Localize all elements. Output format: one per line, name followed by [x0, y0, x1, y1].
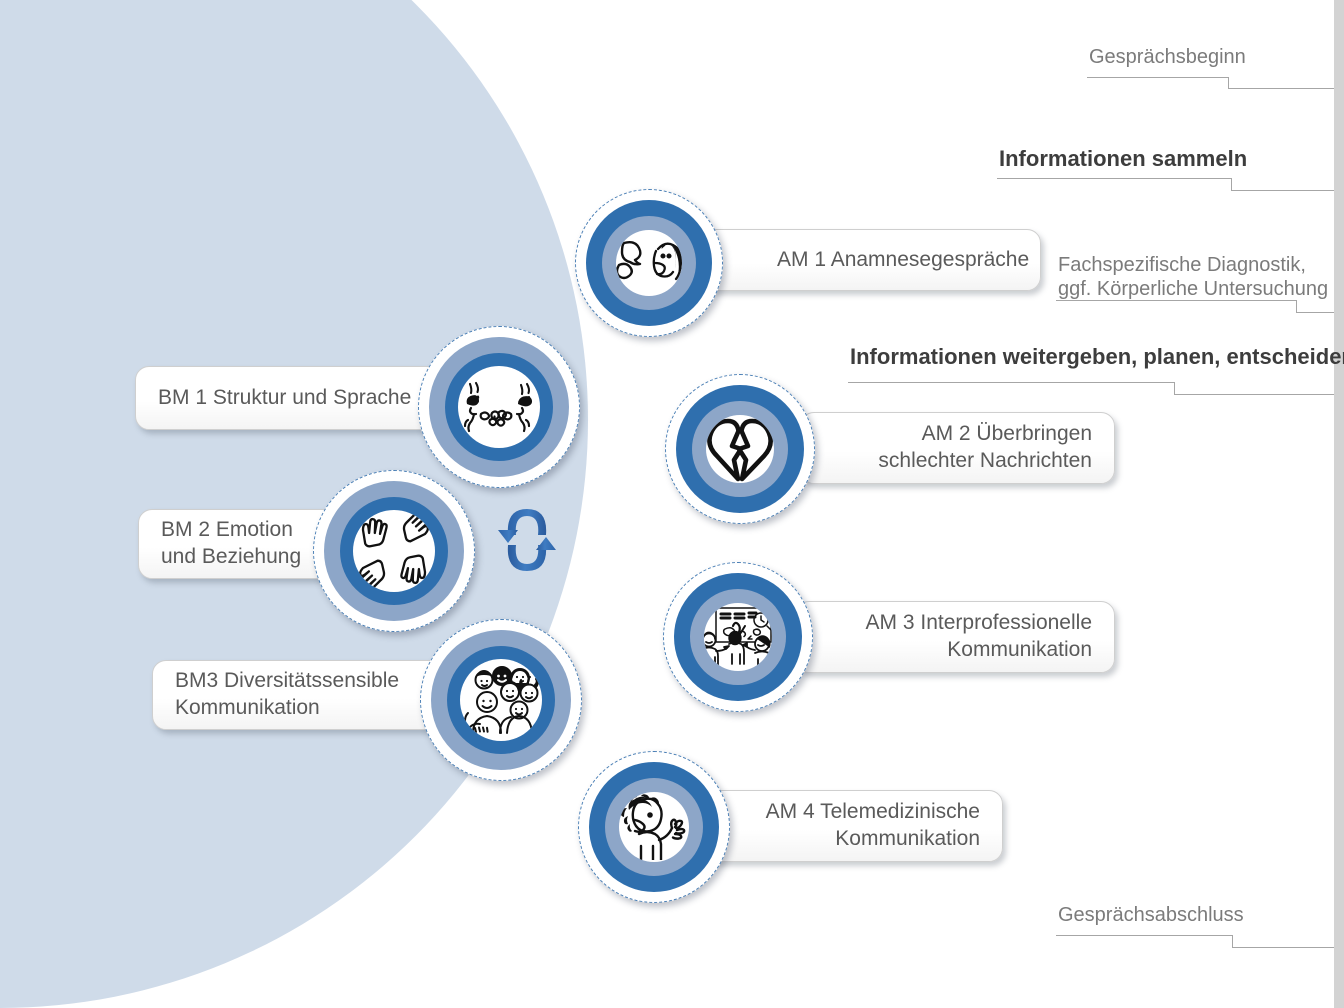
circle-bm3[interactable] — [420, 619, 582, 781]
circle-am4[interactable] — [578, 751, 730, 903]
icon-core — [460, 659, 542, 741]
icon-core — [616, 230, 682, 296]
circle-bm2[interactable] — [313, 470, 475, 632]
phase-label: Gesprächsabschluss — [1058, 903, 1244, 927]
two-people-talking-icon — [459, 380, 539, 434]
icon-core — [458, 366, 540, 448]
icon-core — [706, 415, 774, 483]
pill-am2[interactable]: AM 2 Überbringen schlechter Nachrichten — [800, 412, 1115, 484]
person-waving-icon — [619, 794, 689, 860]
circle-am2[interactable] — [665, 374, 815, 524]
team-meeting-icon — [704, 606, 772, 668]
pill-am4[interactable]: AM 4 Telemedizinische Kommunikation — [700, 790, 1003, 862]
icon-core — [619, 792, 689, 862]
circle-am1[interactable] — [575, 189, 723, 337]
phase-rule — [1056, 935, 1232, 936]
circle-bm1[interactable] — [418, 326, 580, 488]
four-hands-icon — [357, 514, 431, 588]
icon-core — [353, 510, 435, 592]
patient-interview-icon — [616, 237, 682, 289]
pill-am1[interactable]: AM 1 Anamnesegespräche — [702, 229, 1041, 291]
diverse-group-icon — [462, 665, 540, 735]
phase-rule-tail — [1232, 947, 1334, 948]
pill-label: AM 3 Interprofessionelle Kommunikation — [796, 610, 1092, 664]
cycle-arrows-icon — [492, 497, 562, 583]
phase-rule-step — [1232, 935, 1233, 947]
pill-label: AM 1 Anamnesegespräche — [777, 247, 1040, 274]
diagram-canvas: Gesprächsbeginn Informationen sammeln Fa… — [0, 0, 1344, 1008]
pill-am3[interactable]: AM 3 Interprofessionelle Kommunikation — [795, 601, 1115, 673]
pill-label: AM 4 Telemedizinische Kommunikation — [701, 799, 980, 853]
icon-core — [704, 603, 772, 671]
circle-am3[interactable] — [663, 562, 813, 712]
broken-heart-icon — [706, 416, 774, 482]
pill-label: AM 2 Überbringen schlechter Nachrichten — [801, 421, 1092, 475]
